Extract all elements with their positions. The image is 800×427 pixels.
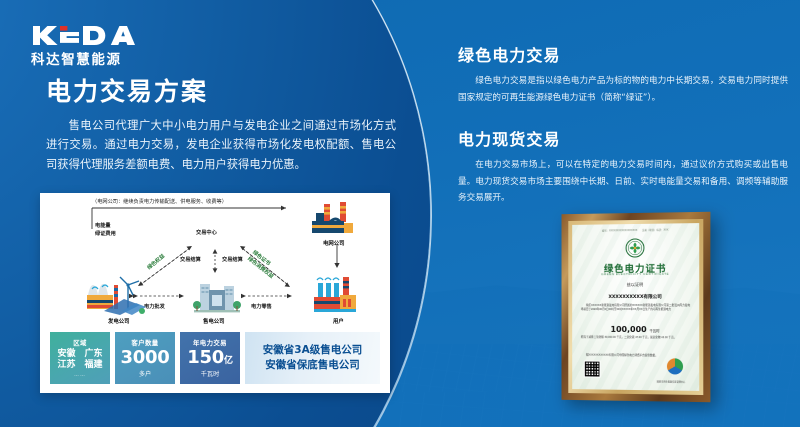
diagram-label-center: 交易中心 (196, 229, 217, 236)
stat-region-caption: 区域 (73, 338, 87, 347)
certificate-amount-number: 100,000 (611, 325, 647, 334)
section-title-spot-trading: 电力现货交易 (458, 126, 788, 150)
certificate-title-en: GREEN ELECTRICITY CERTIFICATE (572, 272, 699, 277)
green-certificate-frame: 编号：XXXXXXXXXXXXXXXXXX 交易（项目）标识：XXX 绿色电力证… (562, 212, 711, 402)
section-body-spot-trading: 在电力交易市场上，可以在特定的电力交易时间内，通过议价方式购买或出售电量。电力现… (458, 157, 788, 207)
stat-card-credentials: KEDA 安徽省3A级售电公司 安徽省保底售电公司 (245, 332, 380, 384)
credential-line-1: 安徽省3A级售电公司 (263, 343, 362, 358)
right-content-column: 绿色电力交易 绿色电力交易是指以绿色电力产品为标的物的电力中长期交易，交易电力同… (458, 42, 788, 227)
keda-wordmark-icon (31, 24, 135, 47)
credential-line-2: 安徽省保底售电公司 (265, 358, 360, 373)
stat-card-region: 区域 安徽 广东 江苏 福建 …… (50, 332, 110, 384)
diagram-label-fee: 电能量绿证费用 (95, 223, 116, 239)
stat-region-line2: 江苏 福建 (57, 360, 102, 371)
retailer-building-icon (192, 276, 242, 316)
power-trading-flow-diagram: （电网公司：继续负责电力传输配送、供电服务、收费等） (40, 193, 390, 326)
diagram-card: （电网公司：继续负责电力传输配送、供电服务、收费等） (40, 193, 390, 393)
certificate-header-code: 编号：XXXXXXXXXXXXXXXXXX 交易（项目）标识：XXX (572, 227, 699, 233)
section-body-green-trading: 绿色电力交易是指以绿色电力产品为标的物的电力中长期交易，交易电力同时提供国家规定… (458, 73, 788, 106)
slide-root: 科达智慧能源 电力交易方案 售电公司代理广大中小电力用户与发电企业之间通过市场化… (0, 0, 800, 427)
keda-watermark: KEDA (245, 332, 248, 384)
user-factory-icon (312, 273, 360, 315)
stats-strip: 区域 安徽 广东 江苏 福建 …… 客户数量 3000 多户 年电力交易 150… (50, 332, 380, 384)
stat-volume-sub: 千瓦时 (201, 369, 220, 378)
certificate-inner-frame: 编号：XXXXXXXXXXXXXXXXXX 交易（项目）标识：XXX 绿色电力证… (568, 219, 703, 395)
certificate-issuer-logo-icon (667, 358, 683, 374)
grid-company-icon (308, 201, 356, 239)
certificate-company: XXXXXXXXXX有限公司 (572, 294, 699, 300)
certificate-paper: 编号：XXXXXXXXXXXXXXXXXX 交易（项目）标识：XXX 绿色电力证… (572, 223, 699, 391)
diagram-label-settle-left: 交易结算 (180, 256, 201, 263)
diagram-label-retail: 电力零售 (251, 303, 272, 310)
stat-volume-value: 150亿 (187, 349, 232, 367)
logo-red-accent (60, 26, 67, 31)
diagram-node-retailer-label: 售电公司 (203, 317, 225, 325)
stat-card-volume: 年电力交易 150亿 千瓦时 (180, 332, 240, 384)
certificate-amount: 100,000 千瓦时 (572, 325, 699, 335)
generator-plant-icon (84, 271, 150, 316)
section-title-green-trading: 绿色电力交易 (458, 42, 788, 66)
diagram-node-grid-label: 电网公司 (323, 239, 345, 247)
stat-volume-caption: 年电力交易 (193, 338, 227, 347)
certificate-amount-unit: 千瓦时 (649, 329, 659, 333)
certificate-subtitle: 兹以证明 (572, 282, 699, 288)
page-title: 电力交易方案 (46, 72, 396, 108)
certificate-paragraph: 购买XXXXXX新能源发电有限公司所属的XXXXXX新能源发电有限公司第二批温ุ… (581, 304, 690, 313)
brand-sub-label: 科达智慧能源 (31, 48, 135, 68)
certificate-outer-frame: 编号：XXXXXXXXXXXXXXXXXX 交易（项目）标识：XXX 绿色电力证… (562, 212, 711, 402)
stat-card-customers: 客户数量 3000 多户 (115, 332, 175, 384)
stat-volume-unit: 亿 (224, 356, 233, 366)
left-content-block: 电力交易方案 售电公司代理广大中小电力用户与发电企业之间通过市场化方式进行交易。… (46, 72, 396, 174)
certificate-qr-code (584, 361, 601, 378)
stat-customers-caption: 客户数量 (131, 338, 158, 347)
stat-customers-sub: 多户 (139, 369, 151, 378)
brand-logo: 科达智慧能源 (31, 24, 135, 68)
certificate-paragraph-2: 相当于减排二氧化碳 49,000.00 千克，二氧化硫 47.00 千克，氮氧化… (581, 336, 690, 341)
diagram-label-settle-right: 交易结算 (222, 256, 243, 263)
stat-customers-value: 3000 (121, 349, 170, 367)
diagram-node-user-label: 用户 (333, 317, 344, 325)
stat-volume-number: 150 (187, 347, 224, 368)
stat-region-dots: …… (74, 372, 86, 378)
stat-region-line1: 安徽 广东 (57, 349, 102, 360)
page-intro-text: 售电公司代理广大中小电力用户与发电企业之间通过市场化方式进行交易。通过电力交易，… (46, 116, 396, 174)
diagram-node-generator-label: 发电公司 (108, 317, 130, 325)
certificate-issuer: 国家可再生能源信息管理中心 (649, 379, 693, 384)
green-certificate-seal-icon (625, 238, 645, 258)
